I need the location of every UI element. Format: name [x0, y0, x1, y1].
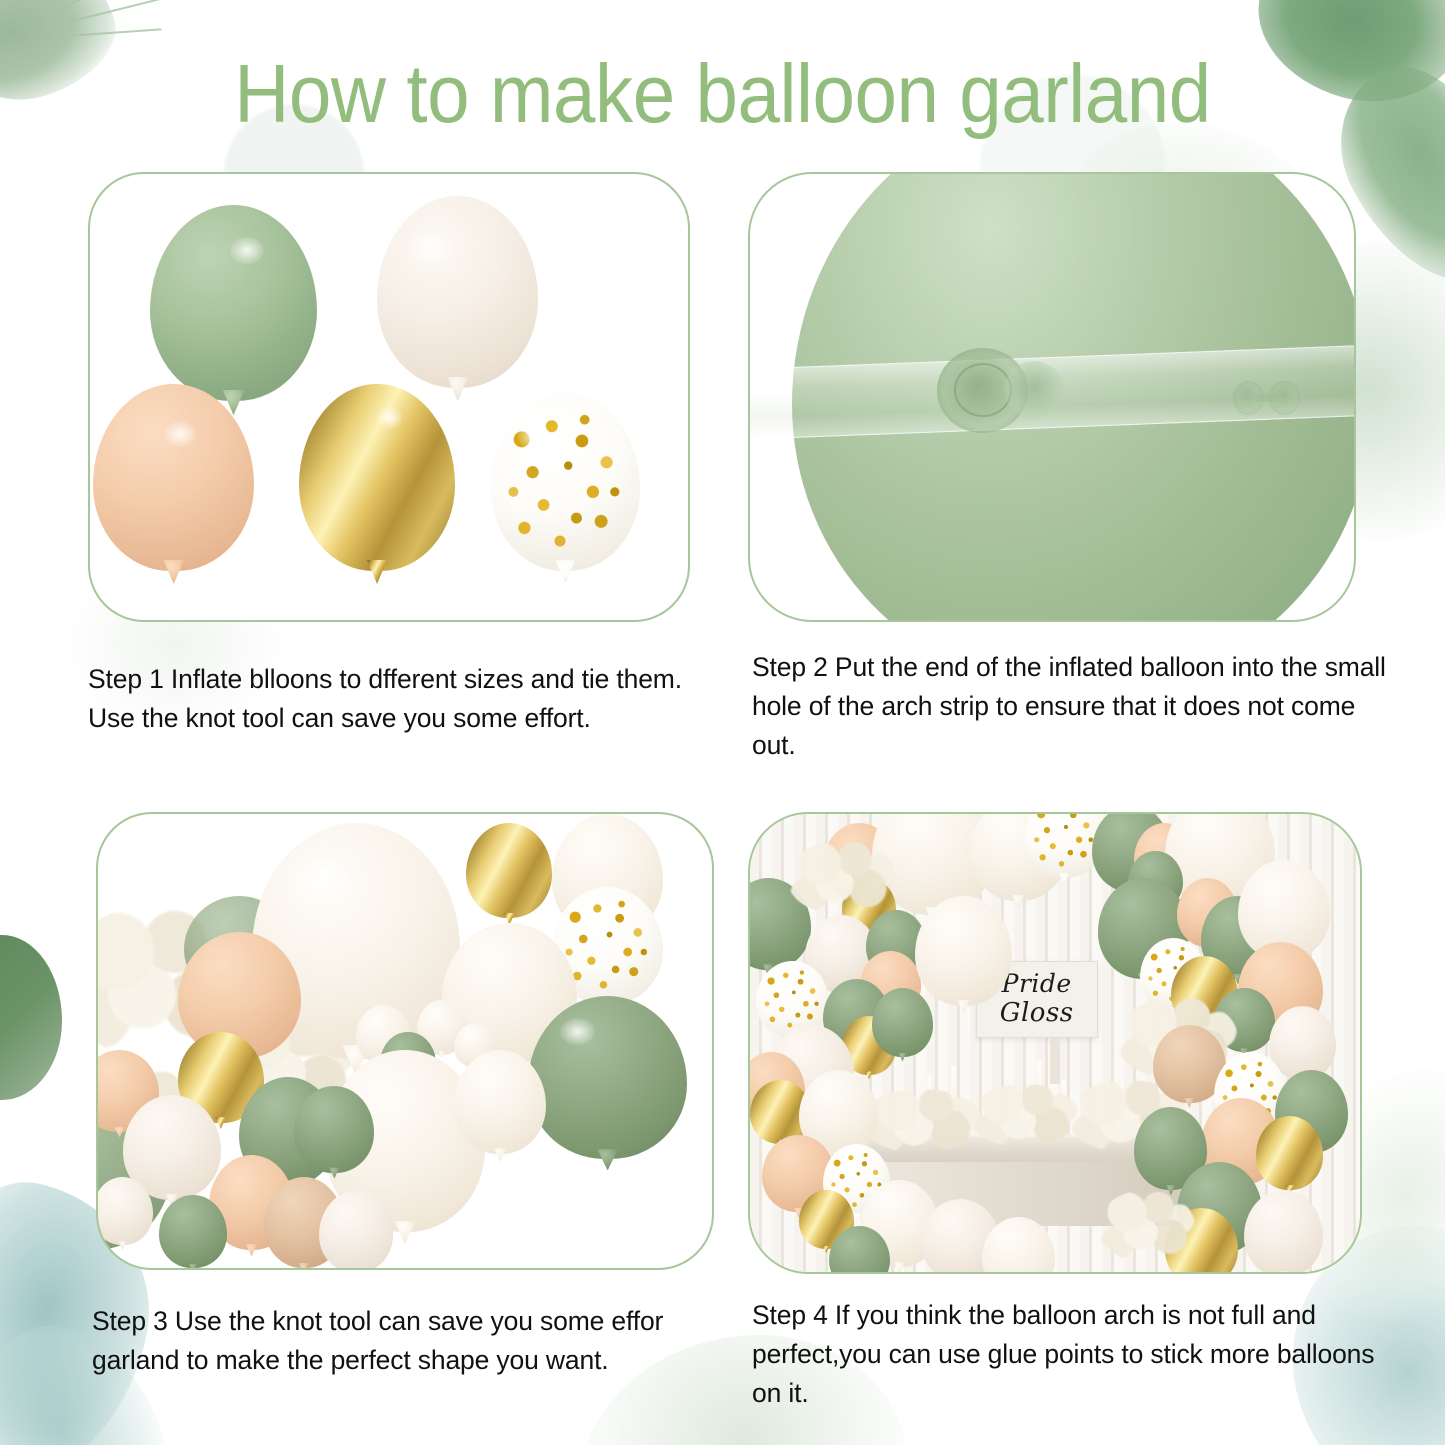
- sign-line-1: Pride: [1002, 970, 1072, 998]
- ivory-balloon: [454, 1050, 546, 1154]
- page-title: How to make balloon garland: [58, 52, 1387, 135]
- sage-green-balloon: [872, 988, 933, 1057]
- arch-strip-hole-bridge: [1256, 394, 1277, 402]
- step-1-image-panel: [88, 172, 690, 622]
- step-4-photo: Pride Gloss: [750, 814, 1360, 1272]
- stem-icon: [48, 0, 177, 28]
- ivory-balloon: [319, 1191, 393, 1268]
- step-4-image-panel: Pride Gloss: [748, 812, 1362, 1274]
- leaf-icon-left-dark: [0, 935, 62, 1100]
- infographic-page: How to make balloon garland: [0, 0, 1445, 1445]
- dried-floral-cluster: [970, 1084, 1080, 1148]
- gold-confetti-balloon: [491, 393, 641, 571]
- sign-line-2: Gloss: [1000, 999, 1074, 1028]
- confetti-dots: [497, 400, 635, 564]
- step-1-caption: Step 1 Inflate blloons to dfferent sizes…: [88, 660, 728, 738]
- step-1-photo: [90, 174, 688, 620]
- sage-green-balloon: [294, 1086, 374, 1172]
- dried-floral-cluster: [1098, 1190, 1196, 1263]
- step-3-photo: [98, 814, 712, 1268]
- blush-balloon: [93, 384, 254, 571]
- dried-floral-cluster: [860, 1089, 982, 1153]
- sage-green-balloon: [528, 996, 688, 1159]
- step-3-image-panel: [96, 812, 714, 1270]
- arch-strip-hole: [1233, 381, 1299, 414]
- step-2-photo: [750, 174, 1354, 620]
- confetti-dots: [1028, 814, 1101, 875]
- dried-floral-cluster: [787, 841, 897, 914]
- stem-icon: [52, 28, 162, 38]
- metallic-gold-balloon: [1256, 1116, 1323, 1189]
- step-2-caption: Step 2 Put the end of the inflated ballo…: [752, 648, 1392, 766]
- stem-icon: [44, 0, 153, 18]
- ivory-balloon: [915, 896, 1013, 1006]
- step-2-image-panel: [748, 172, 1356, 622]
- step-3-caption: Step 3 Use the knot tool can save you so…: [92, 1302, 732, 1380]
- sage-green-balloon: [150, 205, 317, 401]
- sign-stand: [1050, 1038, 1060, 1084]
- ivory-balloon: [377, 196, 538, 388]
- metallic-gold-balloon: [466, 823, 552, 918]
- step-4-caption: Step 4 If you think the balloon arch is …: [752, 1296, 1400, 1414]
- sage-green-balloon: [159, 1195, 227, 1268]
- balloon-knot-secondary: [1004, 361, 1064, 419]
- metallic-gold-balloon: [299, 384, 454, 571]
